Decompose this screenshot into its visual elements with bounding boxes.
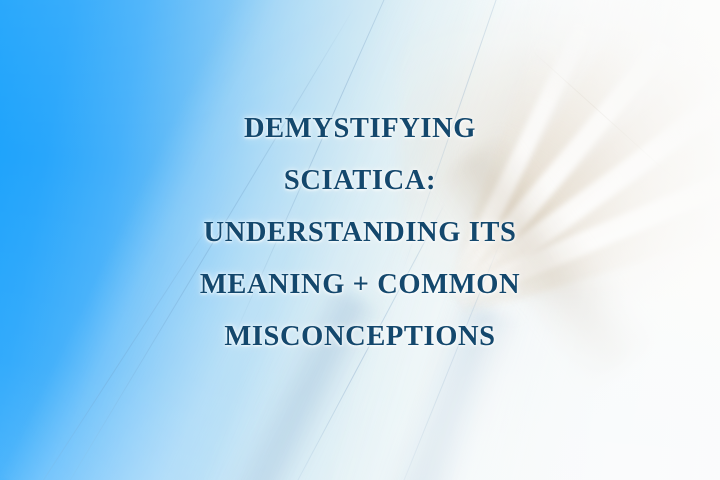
title-line-2: SCIATICA: [0,155,720,207]
title-line-3: UNDERSTANDING ITS [0,207,720,259]
title-line-5: MISCONCEPTIONS [0,311,720,363]
page-title: DEMYSTIFYING SCIATICA: UNDERSTANDING ITS… [0,103,720,363]
title-card: DEMYSTIFYING SCIATICA: UNDERSTANDING ITS… [0,0,720,480]
title-line-1: DEMYSTIFYING [0,103,720,155]
title-line-4: MEANING + COMMON [0,259,720,311]
